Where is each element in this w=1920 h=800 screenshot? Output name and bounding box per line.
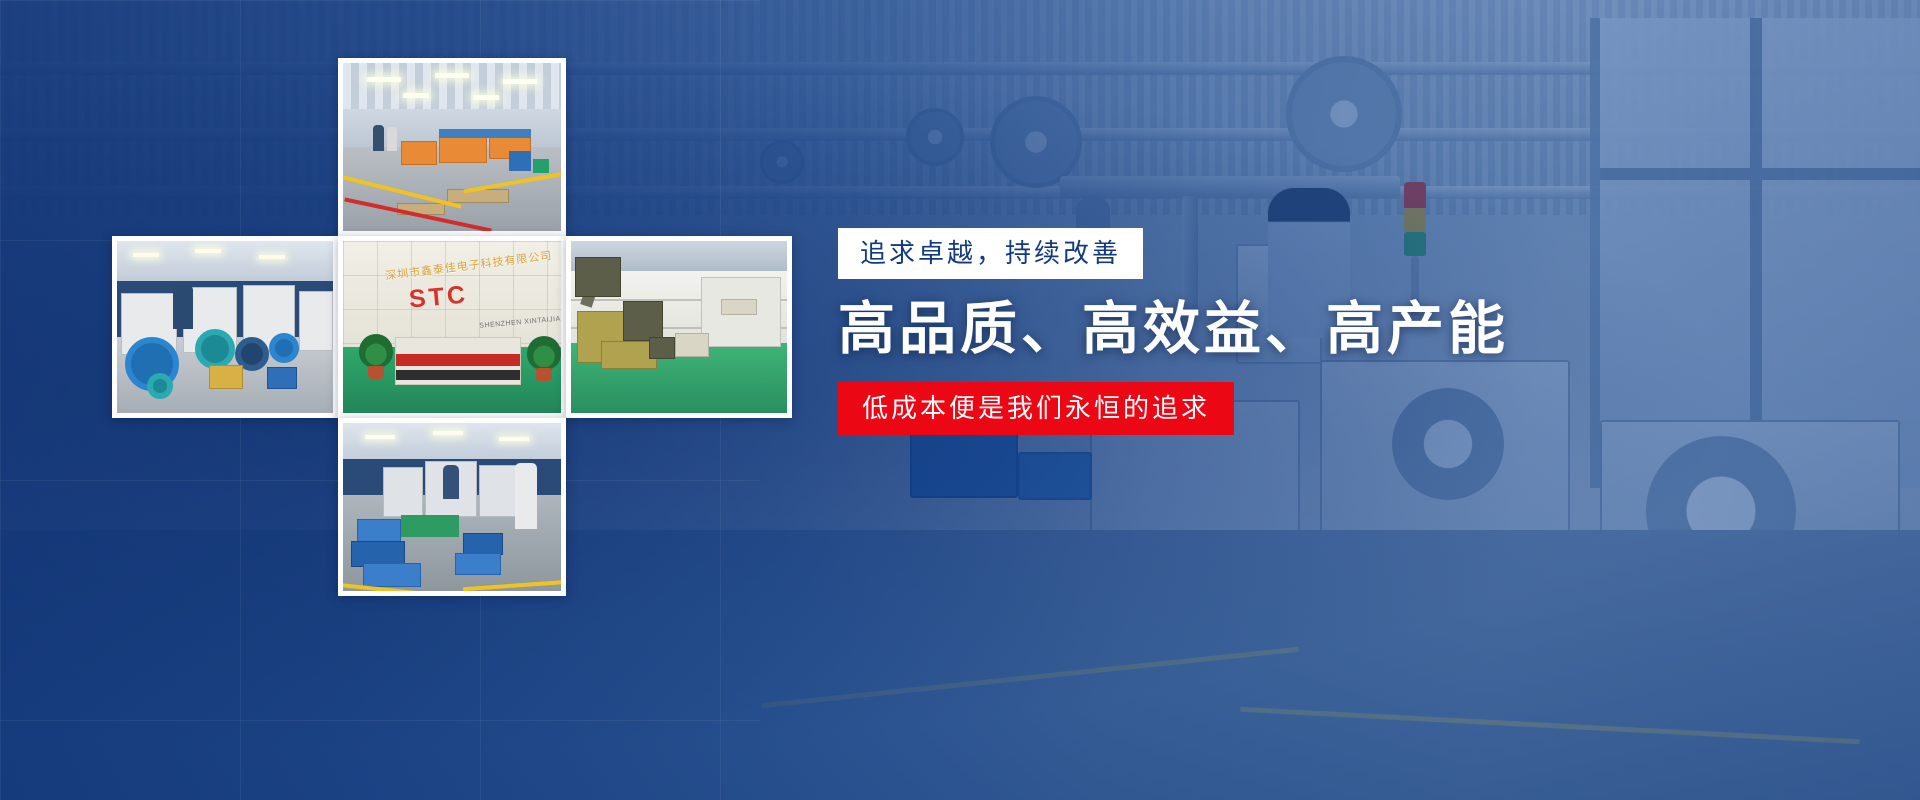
collage-photo-assembly-line[interactable] [338,418,566,596]
photo-collage: 深圳市鑫泰佳电子科技有限公司 STC SHENZHEN XINTAIJIA EL… [112,58,812,598]
hero-cta-banner[interactable]: 低成本便是我们永恒的追求 [838,382,1234,435]
collage-photo-workshop-aisle[interactable] [338,58,566,236]
hero-tagline: 追求卓越，持续改善 [838,228,1143,279]
collage-photo-machine-green-floor[interactable] [566,236,792,418]
hero-banner: 深圳市鑫泰佳电子科技有限公司 STC SHENZHEN XINTAIJIA EL… [0,0,1920,800]
collage-photo-winding-machines[interactable] [112,236,338,418]
hero-text-block: 追求卓越，持续改善 高品质、高效益、高产能 低成本便是我们永恒的追求 [838,228,1498,435]
stc-logo: STC [408,280,469,314]
collage-photo-stc-reception[interactable]: 深圳市鑫泰佳电子科技有限公司 STC SHENZHEN XINTAIJIA EL… [338,236,566,418]
hero-headline: 高品质、高效益、高产能 [838,298,1498,362]
